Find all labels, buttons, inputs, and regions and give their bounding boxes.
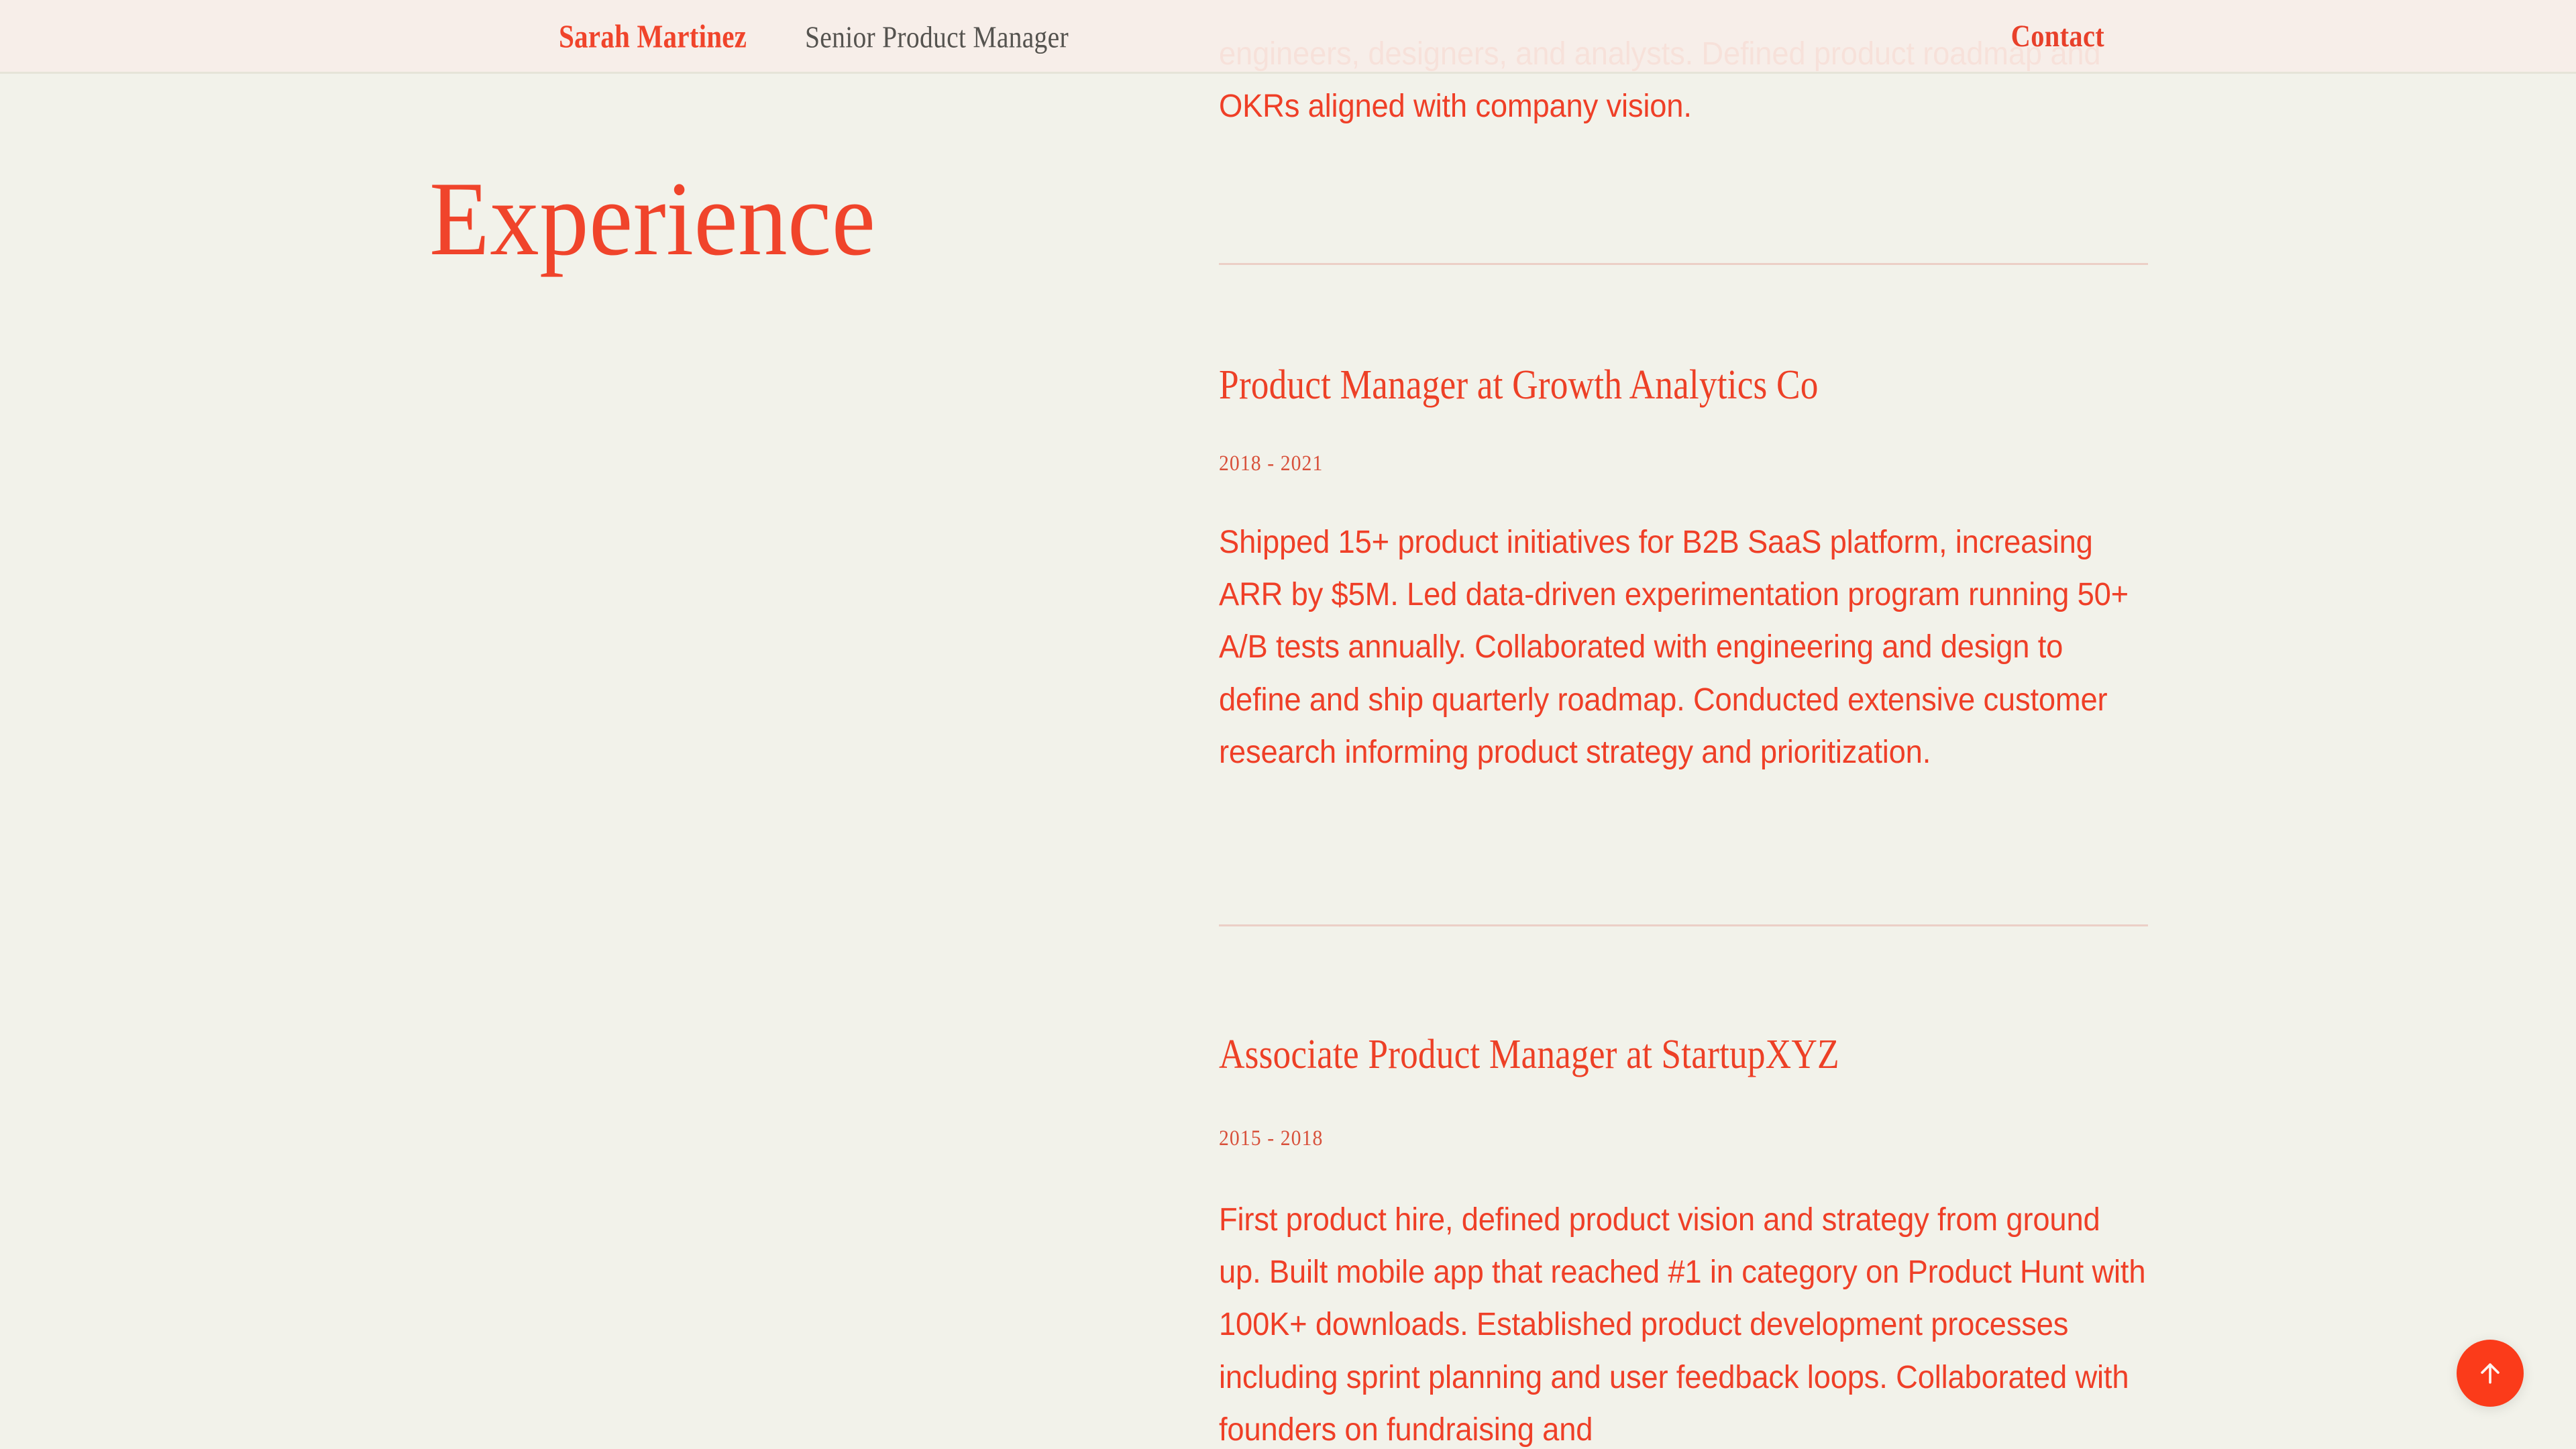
brand[interactable]: Sarah Martinez Senior Product Manager (559, 17, 1105, 55)
scroll-to-top-button[interactable] (2457, 1340, 2524, 1407)
site-header: Sarah Martinez Senior Product Manager Co… (0, 0, 2576, 74)
entry-dates: 2015 - 2018 (1219, 1126, 1323, 1151)
section-title-column: Experience (429, 166, 1140, 272)
nav-link-contact[interactable]: Contact (2011, 18, 2104, 54)
entry-title: Associate Product Manager at StartupXYZ (1219, 1032, 1839, 1078)
arrow-up-icon (2475, 1358, 2505, 1388)
entry-divider (1219, 263, 2148, 265)
page-root: Experience engineers, designers, and ana… (0, 0, 2576, 1449)
page-title: Experience (429, 166, 1091, 272)
entry-body: Shipped 15+ product initiatives for B2B … (1219, 517, 2147, 779)
entry-divider (1219, 924, 2148, 926)
entry-dates: 2018 - 2021 (1219, 451, 1323, 476)
brand-name[interactable]: Sarah Martinez (559, 17, 747, 55)
brand-role: Senior Product Manager (805, 19, 1069, 54)
entry-title: Product Manager at Growth Analytics Co (1219, 362, 1819, 409)
entry-body: First product hire, defined product visi… (1219, 1194, 2147, 1449)
main-nav: Contact (1996, 18, 2576, 54)
